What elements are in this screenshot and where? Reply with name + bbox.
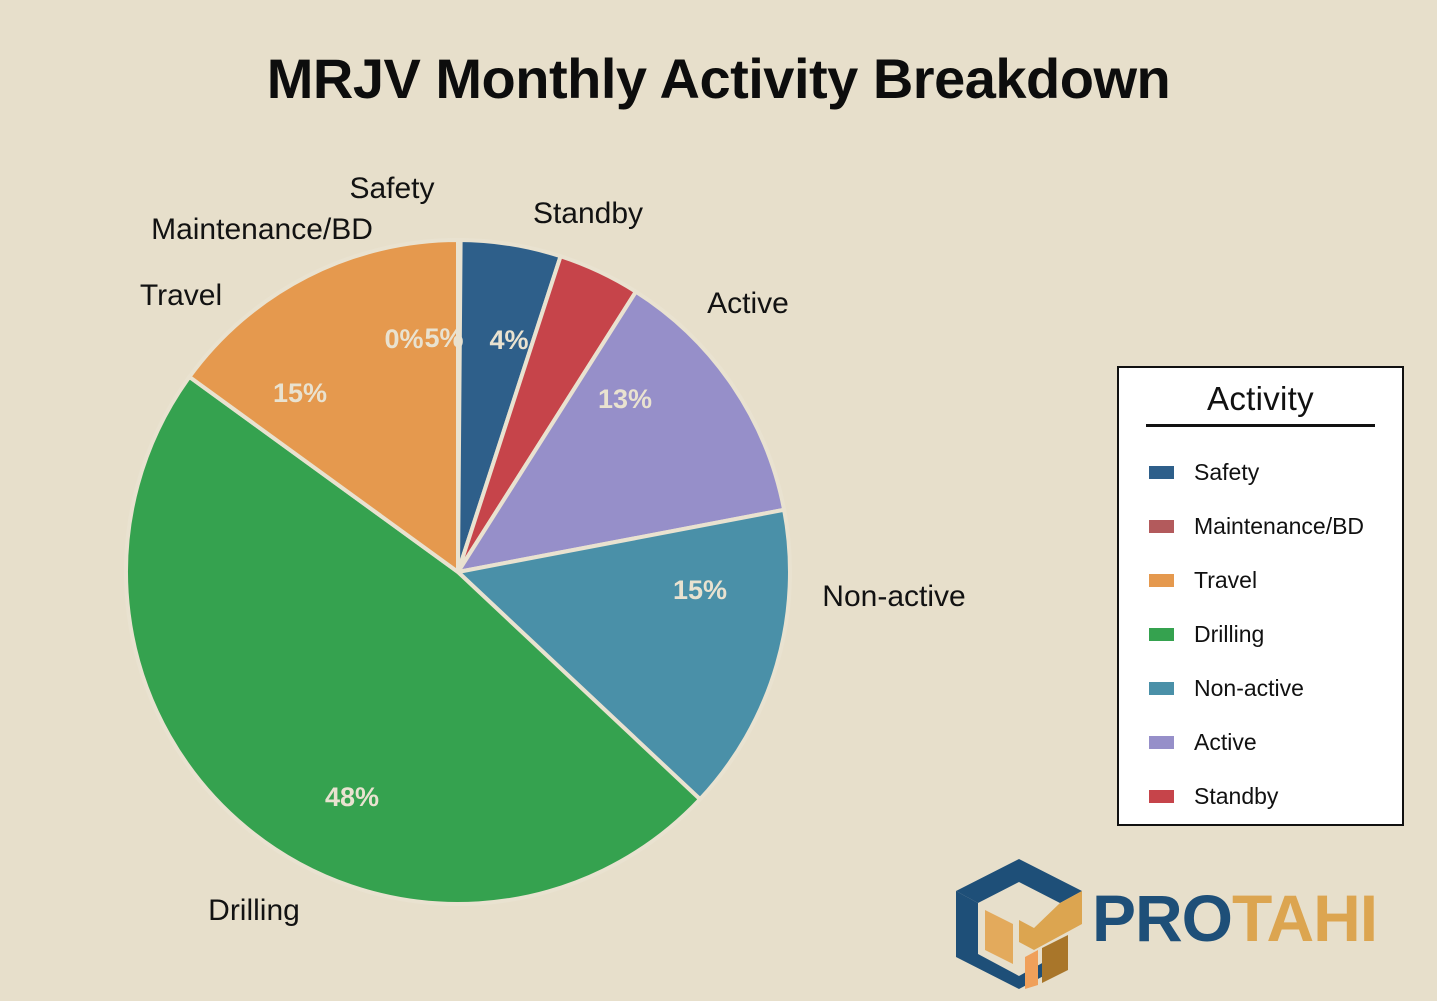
percent-label-non-active: 15% — [673, 575, 727, 605]
legend-panel: Activity SafetyMaintenance/BDTravelDrill… — [1117, 366, 1404, 826]
legend-swatch-maintenance-bd — [1149, 520, 1174, 533]
protahi-logo: PROTAHI — [952, 858, 1412, 990]
legend-item-active[interactable]: Active — [1149, 715, 1402, 769]
legend-divider — [1146, 424, 1375, 427]
legend-label-non-active: Non-active — [1194, 675, 1304, 702]
protahi-wordmark: PROTAHI — [1092, 880, 1377, 956]
legend-swatch-standby — [1149, 790, 1174, 803]
category-label-maintenance-bd: Maintenance/BD — [151, 213, 373, 246]
category-label-active: Active — [707, 287, 789, 320]
logo-text-tahi: TAHI — [1232, 881, 1377, 955]
legend-item-safety[interactable]: Safety — [1149, 445, 1402, 499]
category-label-standby: Standby — [533, 197, 643, 230]
legend-label-active: Active — [1194, 729, 1257, 756]
percent-label-safety: 5% — [424, 323, 463, 353]
category-label-non-active: Non-active — [822, 580, 965, 613]
chart-canvas: MRJV Monthly Activity Breakdown 5%4%13%1… — [0, 0, 1437, 1001]
logo-text-pro: PRO — [1092, 881, 1232, 955]
percent-label-maintenance-bd: 0% — [384, 324, 423, 354]
legend-label-drilling: Drilling — [1194, 621, 1264, 648]
legend-item-maintenance-bd[interactable]: Maintenance/BD — [1149, 499, 1402, 553]
legend-item-standby[interactable]: Standby — [1149, 769, 1402, 823]
legend-swatch-travel — [1149, 574, 1174, 587]
legend-label-standby: Standby — [1194, 783, 1278, 810]
protahi-cube-icon — [952, 858, 1086, 990]
legend-item-drilling[interactable]: Drilling — [1149, 607, 1402, 661]
pie-slice-maintenance-bd[interactable] — [458, 240, 461, 572]
percent-label-active: 13% — [598, 384, 652, 414]
legend-items: SafetyMaintenance/BDTravelDrillingNon-ac… — [1119, 445, 1402, 823]
legend-item-travel[interactable]: Travel — [1149, 553, 1402, 607]
percent-label-standby: 4% — [489, 325, 528, 355]
category-label-safety: Safety — [349, 172, 434, 205]
legend-title: Activity — [1119, 380, 1402, 418]
category-label-drilling: Drilling — [208, 894, 300, 927]
legend-label-maintenance-bd: Maintenance/BD — [1194, 513, 1364, 540]
percent-label-drilling: 48% — [325, 782, 379, 812]
category-label-travel: Travel — [140, 279, 222, 312]
legend-swatch-non-active — [1149, 682, 1174, 695]
legend-swatch-safety — [1149, 466, 1174, 479]
legend-item-non-active[interactable]: Non-active — [1149, 661, 1402, 715]
legend-label-safety: Safety — [1194, 459, 1259, 486]
percent-label-travel: 15% — [273, 378, 327, 408]
legend-swatch-drilling — [1149, 628, 1174, 641]
legend-swatch-active — [1149, 736, 1174, 749]
legend-label-travel: Travel — [1194, 567, 1257, 594]
